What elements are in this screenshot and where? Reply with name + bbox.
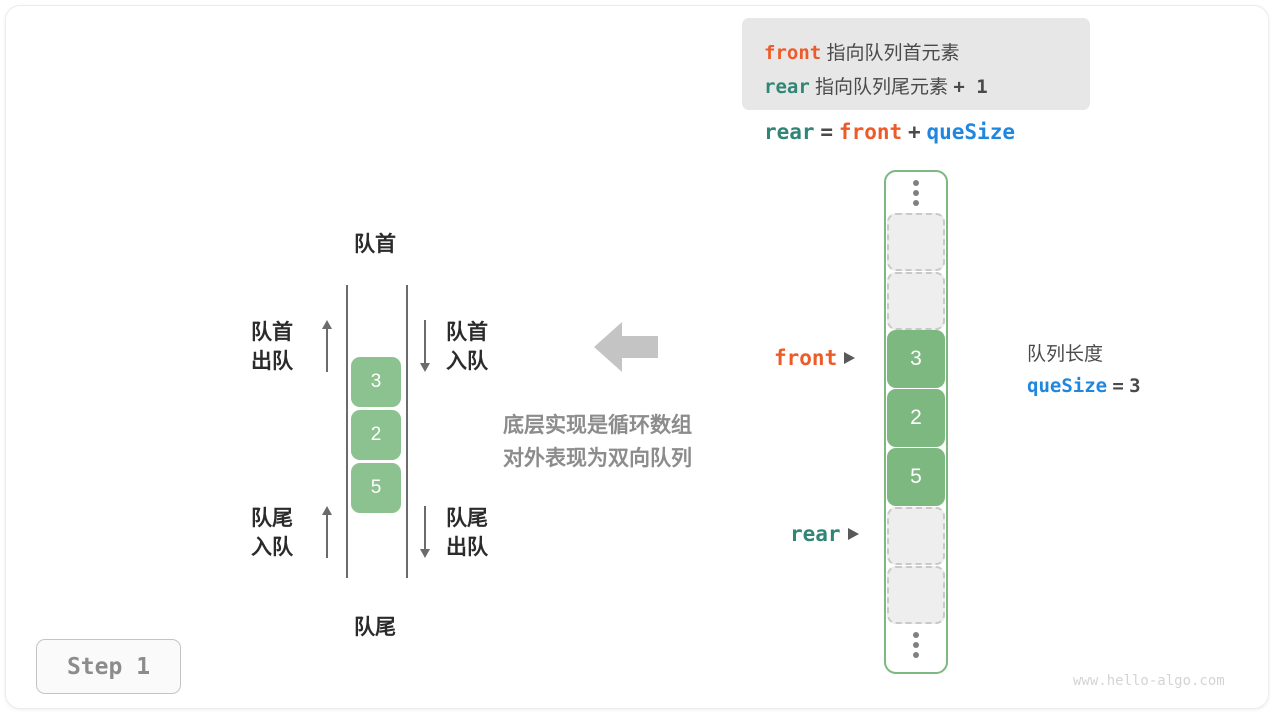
tail-pop-label: 队尾 出队 [446, 504, 488, 562]
array-top-ellipsis-icon [908, 180, 924, 206]
formula-quesize: queSize [926, 120, 1015, 144]
watermark: www.hello-algo.com [1073, 673, 1225, 689]
implementation-note-line1: 底层实现是循环数组 [503, 409, 692, 442]
rear-pointer: rear [790, 522, 859, 546]
head-push-arrow-icon [418, 320, 432, 372]
legend-box: front 指向队列首元素 rear 指向队列尾元素 + 1 [742, 18, 1090, 110]
rear-pointer-arrow-icon [848, 528, 859, 540]
head-pop-label-line2: 出队 [251, 347, 293, 376]
queue-size-info: 队列长度 queSize = 3 [1027, 338, 1141, 403]
array-cell-1 [887, 272, 945, 330]
queue-size-equals: = [1112, 375, 1123, 397]
front-pointer-arrow-icon [844, 352, 855, 364]
tail-push-arrow-icon [320, 506, 334, 558]
array-cell-5 [887, 507, 945, 565]
head-push-label-line2: 入队 [446, 347, 488, 376]
array-cell-3: 2 [887, 389, 945, 447]
deque-tail-caption: 队尾 [345, 611, 405, 641]
rear-pointer-label: rear [790, 522, 841, 546]
implementation-note-line2: 对外表现为双向队列 [503, 442, 692, 475]
array-cell-0 [887, 213, 945, 271]
front-pointer: front [774, 346, 855, 370]
head-pop-label-line1: 队首 [251, 318, 293, 347]
formula-front: front [839, 120, 902, 144]
tail-push-label-line1: 队尾 [251, 504, 293, 533]
legend-rear-suffix: + 1 [953, 76, 987, 98]
tail-pop-label-line1: 队尾 [446, 504, 488, 533]
diagram-canvas: front 指向队列首元素 rear 指向队列尾元素 + 1 rear = fr… [0, 0, 1280, 720]
deque-cell-2: 5 [351, 463, 401, 513]
deque-left-rail [346, 285, 348, 578]
formula-equals: = [820, 120, 833, 144]
tail-push-label: 队尾 入队 [251, 504, 293, 562]
head-push-label: 队首 入队 [446, 318, 488, 376]
queue-size-value: 3 [1129, 375, 1140, 397]
implementation-note: 底层实现是循环数组 对外表现为双向队列 [503, 409, 692, 475]
queue-size-var: queSize [1027, 375, 1107, 397]
head-pop-label: 队首 出队 [251, 318, 293, 376]
legend-rear-line: rear 指向队列尾元素 + 1 [764, 72, 988, 99]
deque-cell-1: 2 [351, 410, 401, 460]
deque-cell-0: 3 [351, 357, 401, 407]
legend-front-line: front 指向队列首元素 [764, 38, 960, 65]
queue-size-label: 队列长度 [1027, 338, 1141, 370]
legend-front-keyword: front [764, 42, 821, 64]
array-cell-2: 3 [887, 330, 945, 388]
tail-pop-label-line2: 出队 [446, 533, 488, 562]
step-badge: Step 1 [36, 639, 181, 694]
legend-front-text: 指向队列首元素 [826, 42, 959, 64]
array-cell-6 [887, 566, 945, 624]
head-pop-arrow-icon [320, 320, 334, 372]
legend-rear-keyword: rear [764, 76, 810, 98]
head-push-label-line1: 队首 [446, 318, 488, 347]
formula-plus: + [908, 120, 921, 144]
deque-right-rail [406, 285, 408, 578]
array-cell-4: 5 [887, 448, 945, 506]
front-pointer-label: front [774, 346, 837, 370]
deque-head-caption: 队首 [345, 228, 405, 258]
tail-push-label-line2: 入队 [251, 533, 293, 562]
formula-lhs: rear [764, 120, 815, 144]
array-bottom-ellipsis-icon [908, 632, 924, 658]
transform-arrow-icon [594, 322, 658, 372]
legend-rear-text: 指向队列尾元素 [815, 76, 948, 98]
tail-pop-arrow-icon [418, 506, 432, 558]
formula-rear-equals: rear = front + queSize [764, 120, 1015, 145]
